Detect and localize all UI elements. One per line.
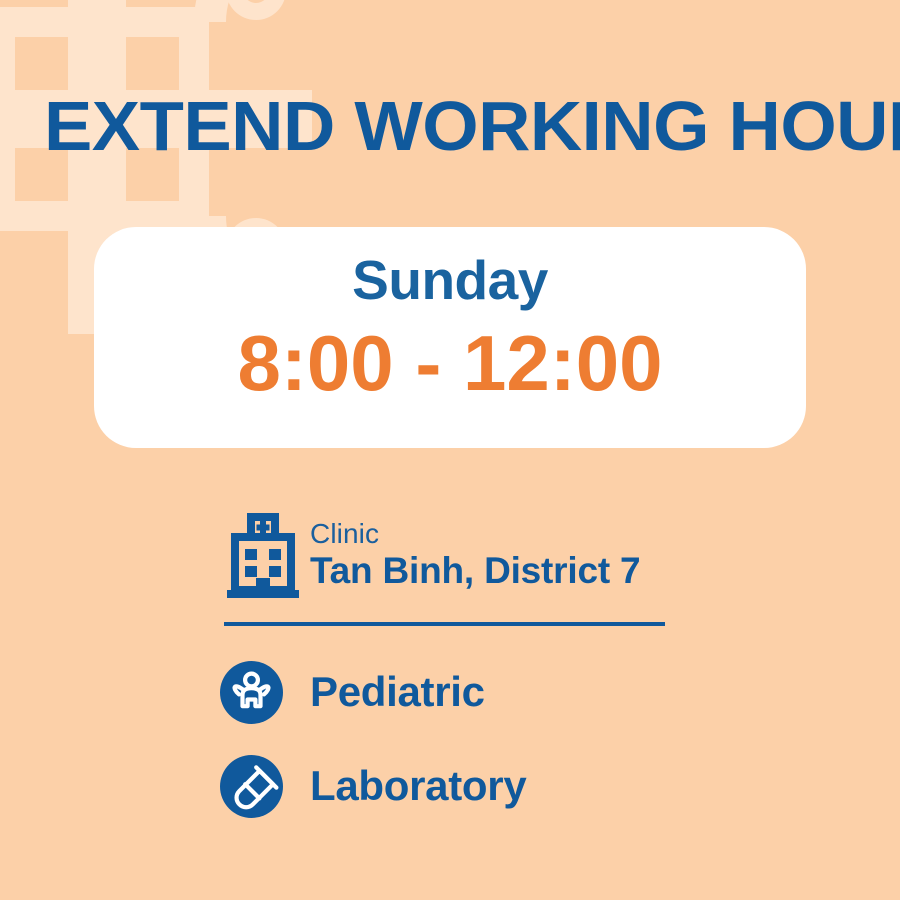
schedule-day: Sunday [94, 251, 806, 309]
services-list: Pediatric Laboratory [220, 661, 720, 849]
list-item: Laboratory [220, 755, 720, 849]
service-label: Laboratory [310, 757, 526, 815]
child-icon [220, 661, 283, 724]
promo-poster: EXTEND WORKING HOURS Sunday 8:00 - 12:00 [0, 0, 900, 900]
list-item: Pediatric [220, 661, 720, 755]
clinic-text-group: Clinic Tan Binh, District 7 [310, 518, 640, 592]
clinic-label: Clinic [310, 518, 640, 550]
test-tube-icon [220, 755, 283, 818]
clinic-name: Tan Binh, District 7 [310, 550, 640, 592]
clinic-location-block: Clinic Tan Binh, District 7 [224, 508, 684, 604]
hospital-building-icon [224, 512, 302, 600]
page-title: EXTEND WORKING HOURS [44, 84, 889, 168]
schedule-card: Sunday 8:00 - 12:00 [94, 227, 806, 448]
service-label: Pediatric [310, 663, 485, 721]
schedule-hours: 8:00 - 12:00 [94, 321, 806, 405]
section-divider [224, 622, 665, 626]
